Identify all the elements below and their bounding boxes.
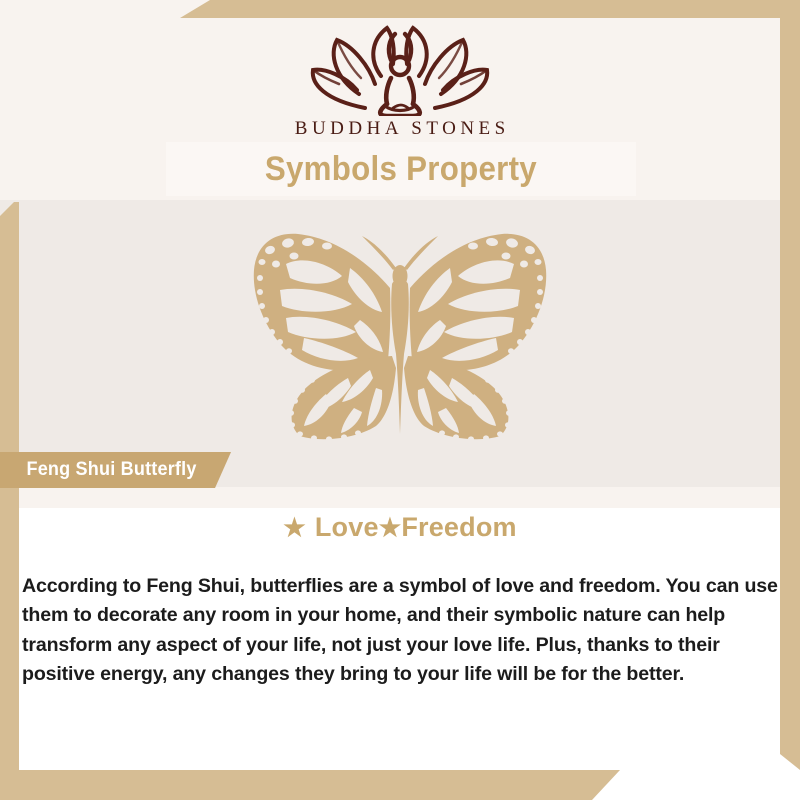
monarch-butterfly-icon — [230, 228, 570, 443]
subheading: ★Love★Freedom — [0, 512, 800, 543]
lotus-meditation-figure-icon — [295, 20, 505, 116]
infographic-page: BUDDHA STONES Symbols Property — [0, 0, 800, 800]
status-badge: Feng Shui Butterfly — [0, 452, 231, 488]
star-icon-left: ★ — [283, 514, 306, 542]
star-icon-middle: ★ — [379, 514, 402, 542]
brand-name: BUDDHA STONES — [0, 118, 800, 140]
decorative-bottom-bar — [0, 770, 620, 800]
page-title-band: Symbols Property — [166, 142, 636, 196]
brand-logo: BUDDHA STONES — [0, 20, 800, 140]
body-paragraph: According to Feng Shui, butterflies are … — [22, 572, 782, 690]
butterfly-illustration — [0, 228, 800, 443]
banner-label: Feng Shui Butterfly — [26, 459, 196, 481]
subheading-word-two: Freedom — [401, 512, 516, 542]
page-title: Symbols Property — [265, 150, 537, 189]
decorative-top-bar — [180, 0, 800, 18]
subheading-word-one: Love — [315, 512, 379, 542]
